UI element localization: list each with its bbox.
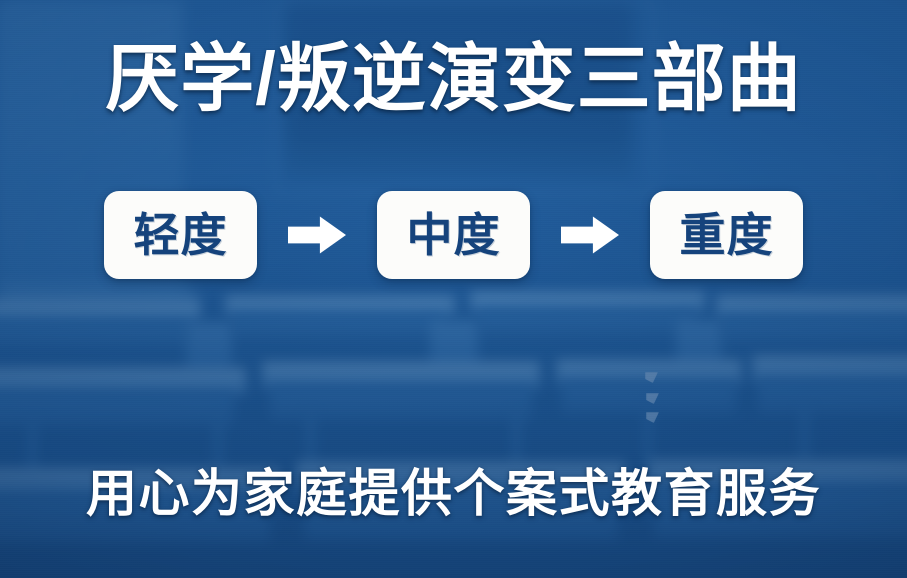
- stage-badge-moderate[interactable]: 中度: [377, 191, 530, 279]
- poster-root: 厌学/叛逆演变三部曲 轻度 中度 重度 用心为家庭提供个案式教育服务: [0, 0, 907, 578]
- tagline: 用心为家庭提供个案式教育服务: [0, 466, 907, 522]
- arrow-right-glyph: [288, 214, 346, 256]
- stage-badge-label: 轻度: [134, 212, 228, 258]
- arrow-right-icon: [285, 210, 349, 260]
- arrow-right-icon: [558, 210, 622, 260]
- stage-badge-label: 中度: [407, 212, 501, 258]
- stage-badge-mild[interactable]: 轻度: [104, 191, 257, 279]
- stage-badge-severe[interactable]: 重度: [650, 191, 803, 279]
- page-title: 厌学/叛逆演变三部曲: [0, 42, 907, 116]
- arrow-right-glyph: [561, 214, 619, 256]
- poster-content: 厌学/叛逆演变三部曲 轻度 中度 重度 用心为家庭提供个案式教育服务: [0, 0, 907, 578]
- stage-badge-label: 重度: [680, 212, 774, 258]
- stage-progression: 轻度 中度 重度: [0, 191, 907, 279]
